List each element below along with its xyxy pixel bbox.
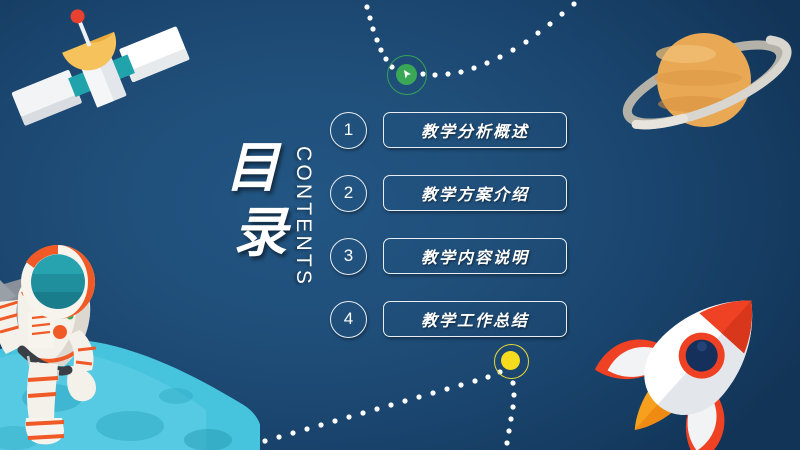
moon-surface	[0, 300, 260, 450]
rocket-icon	[595, 275, 800, 450]
list-item[interactable]: 3 教学内容说明	[330, 234, 580, 278]
list-item[interactable]: 2 教学方案介绍	[330, 171, 580, 215]
menu-item-label: 教学内容说明	[421, 244, 529, 268]
menu-number-label: 1	[344, 120, 353, 140]
menu-item-button[interactable]: 教学内容说明	[383, 238, 567, 274]
menu-item-label: 教学方案介绍	[421, 181, 529, 205]
cursor-icon	[403, 70, 412, 79]
contents-subtitle-text: CONTENTS	[292, 146, 315, 287]
astronaut-icon	[0, 238, 172, 450]
menu-number-label: 4	[344, 309, 353, 329]
contents-subtitle: CONTENTS	[291, 146, 321, 287]
menu-item-label: 教学分析概述	[421, 118, 529, 142]
menu-item-button[interactable]: 教学方案介绍	[383, 175, 567, 211]
title-char-1: 目	[225, 135, 279, 199]
satellite-icon	[0, 2, 209, 152]
menu-item-button[interactable]: 教学分析概述	[383, 112, 567, 148]
page-title: 目 录	[225, 140, 297, 260]
menu-item-label: 教学工作总结	[421, 307, 529, 331]
contents-slide: 目 录 CONTENTS 1 教学分析概述 2 教学方案介绍 3	[0, 0, 800, 450]
menu-item-button[interactable]: 教学工作总结	[383, 301, 567, 337]
menu-number-label: 3	[344, 246, 353, 266]
contents-menu: 1 教学分析概述 2 教学方案介绍 3 教学内容说明 4	[330, 108, 580, 360]
list-item[interactable]: 4 教学工作总结	[330, 297, 580, 341]
menu-number-label: 2	[344, 183, 353, 203]
menu-number-badge: 1	[330, 112, 367, 149]
menu-number-badge: 2	[330, 175, 367, 212]
title-char-2: 录	[233, 205, 297, 260]
menu-number-badge: 4	[330, 301, 367, 338]
menu-number-badge: 3	[330, 238, 367, 275]
slide-title-block: 目 录 CONTENTS	[225, 140, 335, 290]
list-item[interactable]: 1 教学分析概述	[330, 108, 580, 152]
saturn-planet-icon	[612, 12, 797, 152]
